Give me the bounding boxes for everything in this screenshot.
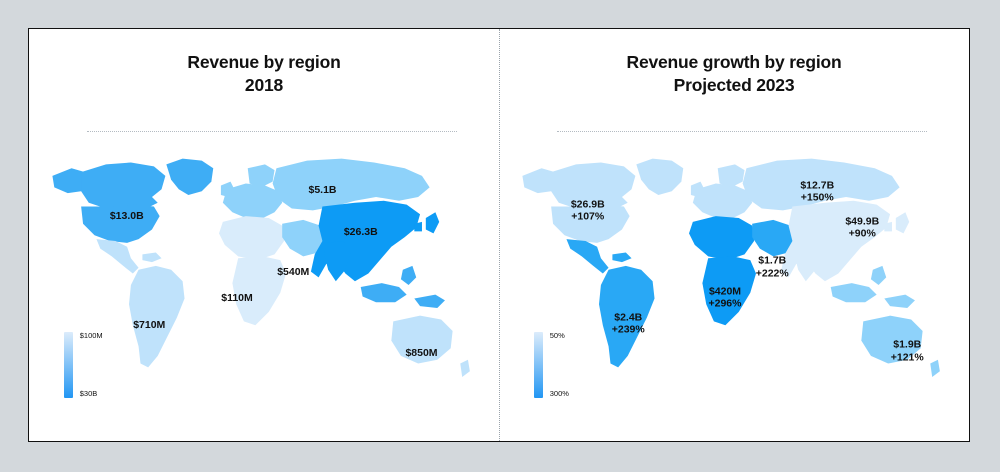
left-title-rule bbox=[87, 131, 457, 132]
region-north-africa bbox=[219, 216, 284, 260]
region-new-guinea bbox=[414, 295, 445, 308]
right-legend-top-label: 50% bbox=[550, 331, 565, 340]
right-title-line2: Projected 2023 bbox=[499, 74, 969, 97]
left-title-line1: Revenue by region bbox=[187, 52, 340, 72]
region-canada bbox=[81, 162, 165, 208]
region-new-zealand bbox=[460, 360, 470, 377]
region-north-africa bbox=[689, 216, 754, 260]
left-title-line2: 2018 bbox=[29, 74, 499, 97]
region-caribbean bbox=[142, 252, 161, 262]
region-southeast-asia bbox=[361, 283, 407, 302]
region-southeast-asia bbox=[831, 283, 877, 302]
left-legend-gradient-bar bbox=[64, 332, 73, 398]
right-world-map: $26.9B +107% $2.4B +239% $420M +296% $1.… bbox=[509, 141, 959, 431]
region-scandinavia bbox=[718, 164, 745, 187]
region-south-america bbox=[599, 266, 655, 367]
panel-revenue-by-region: Revenue by region 2018 bbox=[29, 29, 499, 441]
region-mexico bbox=[96, 239, 138, 273]
left-legend-top-label: $100M bbox=[80, 331, 103, 340]
region-philippines bbox=[871, 266, 886, 285]
region-asia bbox=[781, 201, 890, 281]
right-panel-title: Revenue growth by region Projected 2023 bbox=[499, 51, 969, 97]
region-united-states bbox=[551, 205, 630, 243]
region-australia bbox=[861, 316, 922, 364]
left-legend-bottom-label: $30B bbox=[80, 389, 98, 398]
region-scandinavia bbox=[248, 164, 275, 187]
region-india bbox=[794, 241, 821, 281]
region-united-states bbox=[81, 205, 160, 243]
region-canada bbox=[551, 162, 635, 208]
region-new-guinea bbox=[884, 295, 915, 308]
right-map-svg bbox=[509, 141, 959, 431]
panel-revenue-growth-by-region: Revenue growth by region Projected 2023 bbox=[499, 29, 969, 441]
right-title-rule bbox=[557, 131, 927, 132]
left-panel-title: Revenue by region 2018 bbox=[29, 51, 499, 97]
region-sub-saharan-africa bbox=[232, 256, 286, 325]
region-russia bbox=[273, 159, 430, 211]
region-russia bbox=[743, 159, 900, 211]
region-mexico bbox=[566, 239, 608, 273]
right-title-line1: Revenue growth by region bbox=[627, 52, 842, 72]
region-sub-saharan-africa bbox=[702, 256, 756, 325]
slide-card: Revenue by region 2018 bbox=[28, 28, 970, 442]
left-map-svg bbox=[39, 141, 489, 431]
region-caribbean bbox=[612, 252, 631, 262]
right-legend-gradient-bar bbox=[534, 332, 543, 398]
region-japan bbox=[896, 212, 909, 233]
left-world-map: $13.0B $710M $110M $540M $5.1B $26.3B $8… bbox=[39, 141, 489, 431]
region-greenland bbox=[636, 159, 683, 195]
region-india bbox=[324, 241, 351, 281]
region-philippines bbox=[401, 266, 416, 285]
right-legend-bottom-label: 300% bbox=[550, 389, 569, 398]
region-greenland bbox=[166, 159, 213, 195]
region-japan bbox=[426, 212, 439, 233]
region-new-zealand bbox=[930, 360, 940, 377]
region-australia bbox=[391, 316, 452, 364]
region-asia bbox=[311, 201, 420, 281]
region-south-america bbox=[129, 266, 185, 367]
